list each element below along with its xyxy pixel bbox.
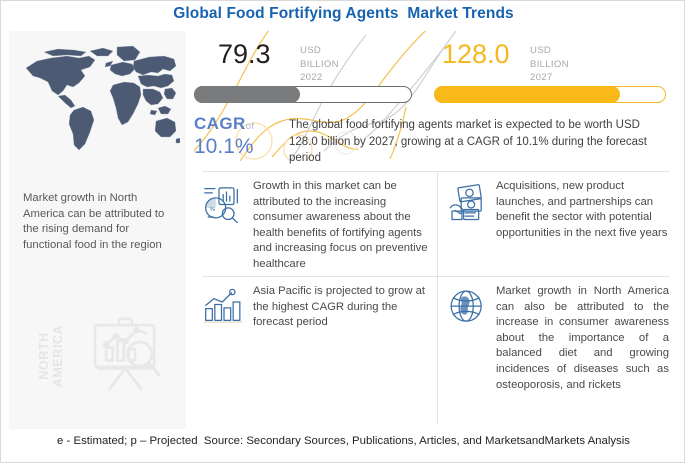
stat-forecast-unit: USD BILLION 2027 bbox=[530, 44, 569, 85]
bar-chart-growth-icon bbox=[204, 286, 244, 328]
chart-analysis-icon: % bbox=[204, 181, 244, 223]
cagr-of-label: of bbox=[246, 121, 255, 132]
north-america-watermark: NORTH AMERICA bbox=[27, 306, 167, 426]
cagr-description: The global food fortifying agents market… bbox=[289, 117, 671, 167]
stat-base-value: 79.3 bbox=[218, 39, 271, 69]
left-panel-note: Market growth in North America can be at… bbox=[23, 191, 175, 253]
divider-vertical bbox=[437, 171, 438, 423]
stat-base-unit: USD BILLION 2022 bbox=[300, 44, 339, 85]
progress-bar-base-fill bbox=[194, 86, 300, 103]
stat-forecast-year: 128.0 USD BILLION 2027 bbox=[442, 39, 510, 69]
divider-horizontal-mid bbox=[202, 276, 670, 277]
money-hand-icon bbox=[447, 181, 487, 223]
footer-source-note: e - Estimated; p – Projected Source: Sec… bbox=[1, 435, 685, 447]
cagr-value: 10.1% bbox=[194, 135, 284, 158]
north-america-label: NORTH AMERICA bbox=[37, 308, 65, 404]
page-title: Global Food Fortifying Agents Market Tre… bbox=[1, 5, 685, 23]
globe-icon bbox=[447, 286, 487, 328]
progress-bar-base-year bbox=[194, 86, 412, 103]
cagr-label: CAGR bbox=[194, 114, 246, 133]
svg-text:%: % bbox=[210, 207, 215, 213]
cagr-block: CAGRof 10.1% bbox=[194, 114, 284, 158]
progress-bar-forecast-year bbox=[434, 86, 666, 103]
item-north-america: Market growth in North America can also … bbox=[447, 284, 669, 393]
item-asia-pacific-text: Asia Pacific is projected to grow at the… bbox=[253, 284, 429, 331]
item-acquisitions-text: Acquisitions, new product launches, and … bbox=[496, 179, 669, 241]
item-north-america-text: Market growth in North America can also … bbox=[496, 284, 669, 393]
item-growth: % Growth in this market can be attribute… bbox=[204, 179, 429, 273]
presentation-chart-magnifier-icon bbox=[87, 312, 167, 396]
world-map-icon bbox=[15, 39, 180, 157]
infographic-frame: Global Food Fortifying Agents Market Tre… bbox=[0, 0, 685, 463]
stat-base-year: 79.3 USD BILLION 2022 bbox=[218, 39, 271, 69]
item-asia-pacific: Asia Pacific is projected to grow at the… bbox=[204, 284, 429, 331]
item-acquisitions: Acquisitions, new product launches, and … bbox=[447, 179, 669, 241]
divider-horizontal-top bbox=[202, 171, 670, 172]
progress-bar-forecast-fill bbox=[434, 86, 620, 103]
content-panel: 79.3 USD BILLION 2022 128.0 USD BILLION … bbox=[194, 31, 678, 429]
left-panel: Market growth in North America can be at… bbox=[9, 31, 186, 429]
stat-forecast-value: 128.0 bbox=[442, 39, 510, 69]
item-growth-text: Growth in this market can be attributed … bbox=[253, 179, 429, 273]
